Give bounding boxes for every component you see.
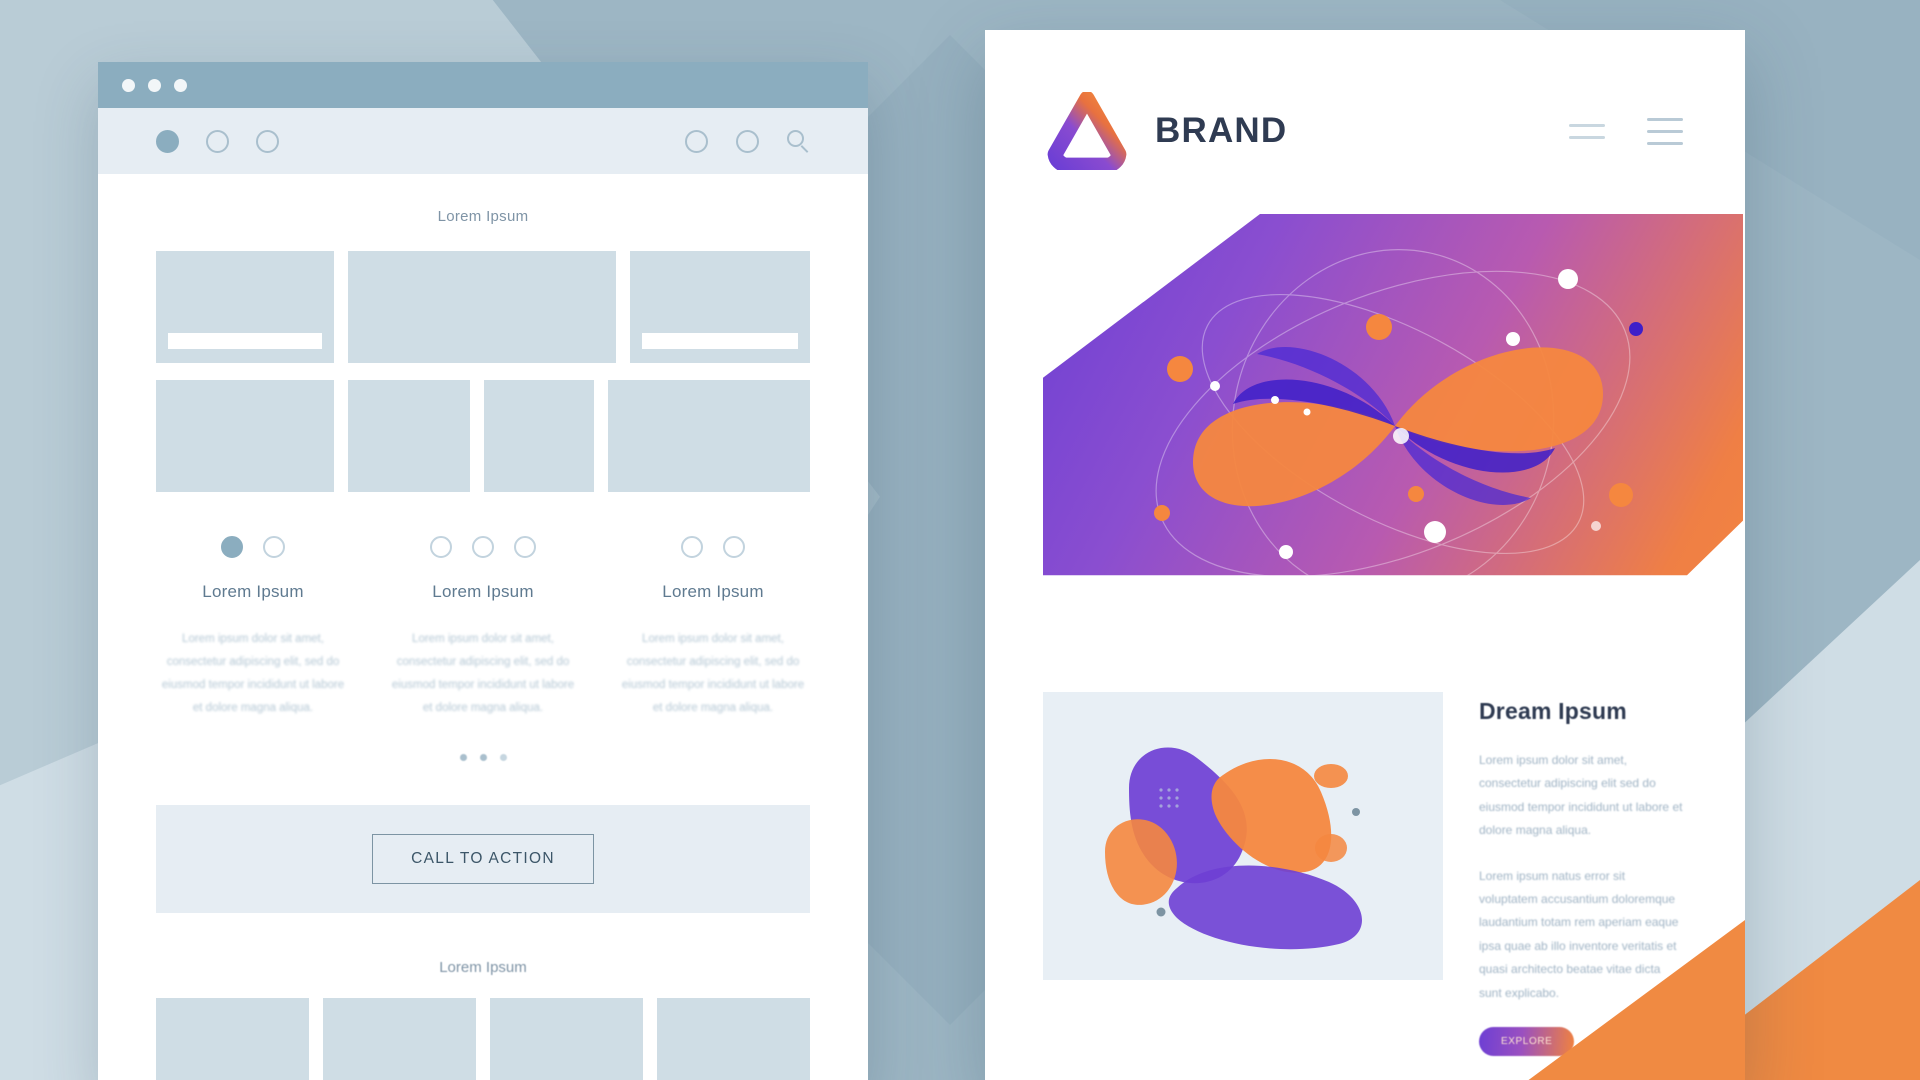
content-section: Dream Ipsum Lorem ipsum dolor sit amet, … (1043, 692, 1683, 1056)
placeholder-grid (98, 251, 868, 492)
feature-dot-group (146, 536, 360, 558)
abstract-blob-graphic (1043, 692, 1443, 980)
feature-body: Lorem ipsum dolor sit amet, consectetur … (146, 628, 360, 720)
section-title: Dream Ipsum (1479, 698, 1683, 725)
placeholder-card-1[interactable] (156, 251, 334, 363)
feature-body: Lorem ipsum dolor sit amet, consectetur … (376, 628, 590, 720)
feature-title: Lorem Ipsum (146, 582, 360, 602)
nav-circle-icon[interactable] (256, 130, 279, 153)
placeholder-card-4[interactable] (156, 380, 334, 492)
feature-dot-active-icon[interactable] (221, 536, 243, 558)
section-paragraph: Lorem ipsum natus error sit voluptatem a… (1479, 865, 1683, 1005)
header-icon-group (1569, 118, 1683, 145)
feature-column: Lorem Ipsum Lorem ipsum dolor sit amet, … (146, 536, 360, 720)
footer-placeholder-card[interactable] (657, 998, 810, 1080)
wireframe-browser-window: Lorem Ipsum Lorem Ipsum Lore (98, 62, 868, 1080)
hero-graphic (1043, 214, 1743, 634)
menu-hamburger-icon[interactable] (1647, 118, 1683, 145)
footer-section-title: Lorem Ipsum (98, 959, 868, 976)
carousel-dot[interactable] (460, 754, 467, 761)
abstract-infinity-hero-graphic (1043, 214, 1743, 634)
triangle-logo-icon[interactable] (1047, 92, 1127, 170)
feature-dot-group (376, 536, 590, 558)
feature-dot-icon[interactable] (681, 536, 703, 558)
feature-dot-group (606, 536, 820, 558)
minimize-dot-icon[interactable] (148, 79, 161, 92)
browser-toolbar (98, 108, 868, 174)
carousel-dot[interactable] (500, 754, 507, 761)
feature-dot-icon[interactable] (430, 536, 452, 558)
action-circle-icon[interactable] (685, 130, 708, 153)
toolbar-right-icon-group (685, 130, 810, 153)
feature-columns: Lorem Ipsum Lorem ipsum dolor sit amet, … (98, 492, 868, 720)
feature-title: Lorem Ipsum (376, 582, 590, 602)
call-to-action-button[interactable]: CALL TO ACTION (372, 834, 594, 884)
footer-placeholder-grid (98, 976, 868, 1080)
toolbar-left-icon-group (156, 130, 279, 153)
maximize-dot-icon[interactable] (174, 79, 187, 92)
page-title: Lorem Ipsum (98, 208, 868, 225)
brand-page: BRAND (985, 30, 1745, 1080)
feature-column: Lorem Ipsum Lorem ipsum dolor sit amet, … (376, 536, 590, 720)
placeholder-card-5[interactable] (348, 380, 470, 492)
placeholder-card-3[interactable] (630, 251, 810, 363)
feature-dot-icon[interactable] (723, 536, 745, 558)
placeholder-card-6[interactable] (484, 380, 594, 492)
feature-body: Lorem ipsum dolor sit amet, consectetur … (606, 628, 820, 720)
brand-name: BRAND (1155, 111, 1287, 151)
close-dot-icon[interactable] (122, 79, 135, 92)
section-artwork (1043, 692, 1443, 980)
feature-dot-icon[interactable] (263, 536, 285, 558)
footer-placeholder-card[interactable] (490, 998, 643, 1080)
carousel-pagination (98, 754, 868, 761)
nav-circle-icon[interactable] (206, 130, 229, 153)
placeholder-row (156, 251, 810, 363)
action-circle-icon[interactable] (736, 130, 759, 153)
placeholder-row (156, 380, 810, 492)
section-paragraph: Lorem ipsum dolor sit amet, consectetur … (1479, 749, 1683, 843)
placeholder-card-2[interactable] (348, 251, 616, 363)
search-icon[interactable] (787, 130, 810, 153)
placeholder-bar (642, 333, 798, 349)
brand-header: BRAND (985, 30, 1745, 170)
placeholder-bar (168, 333, 322, 349)
browser-titlebar (98, 62, 868, 108)
feature-dot-icon[interactable] (514, 536, 536, 558)
nav-circle-active-icon[interactable] (156, 130, 179, 153)
footer-placeholder-card[interactable] (156, 998, 309, 1080)
cta-band: CALL TO ACTION (156, 805, 810, 913)
menu-two-line-icon[interactable] (1569, 124, 1605, 139)
explore-button[interactable]: EXPLORE (1479, 1027, 1574, 1056)
wireframe-content: Lorem Ipsum Lorem Ipsum Lore (98, 174, 868, 1080)
carousel-dot[interactable] (480, 754, 487, 761)
feature-dot-icon[interactable] (472, 536, 494, 558)
placeholder-card-7[interactable] (608, 380, 810, 492)
feature-title: Lorem Ipsum (606, 582, 820, 602)
feature-column: Lorem Ipsum Lorem ipsum dolor sit amet, … (606, 536, 820, 720)
footer-placeholder-card[interactable] (323, 998, 476, 1080)
